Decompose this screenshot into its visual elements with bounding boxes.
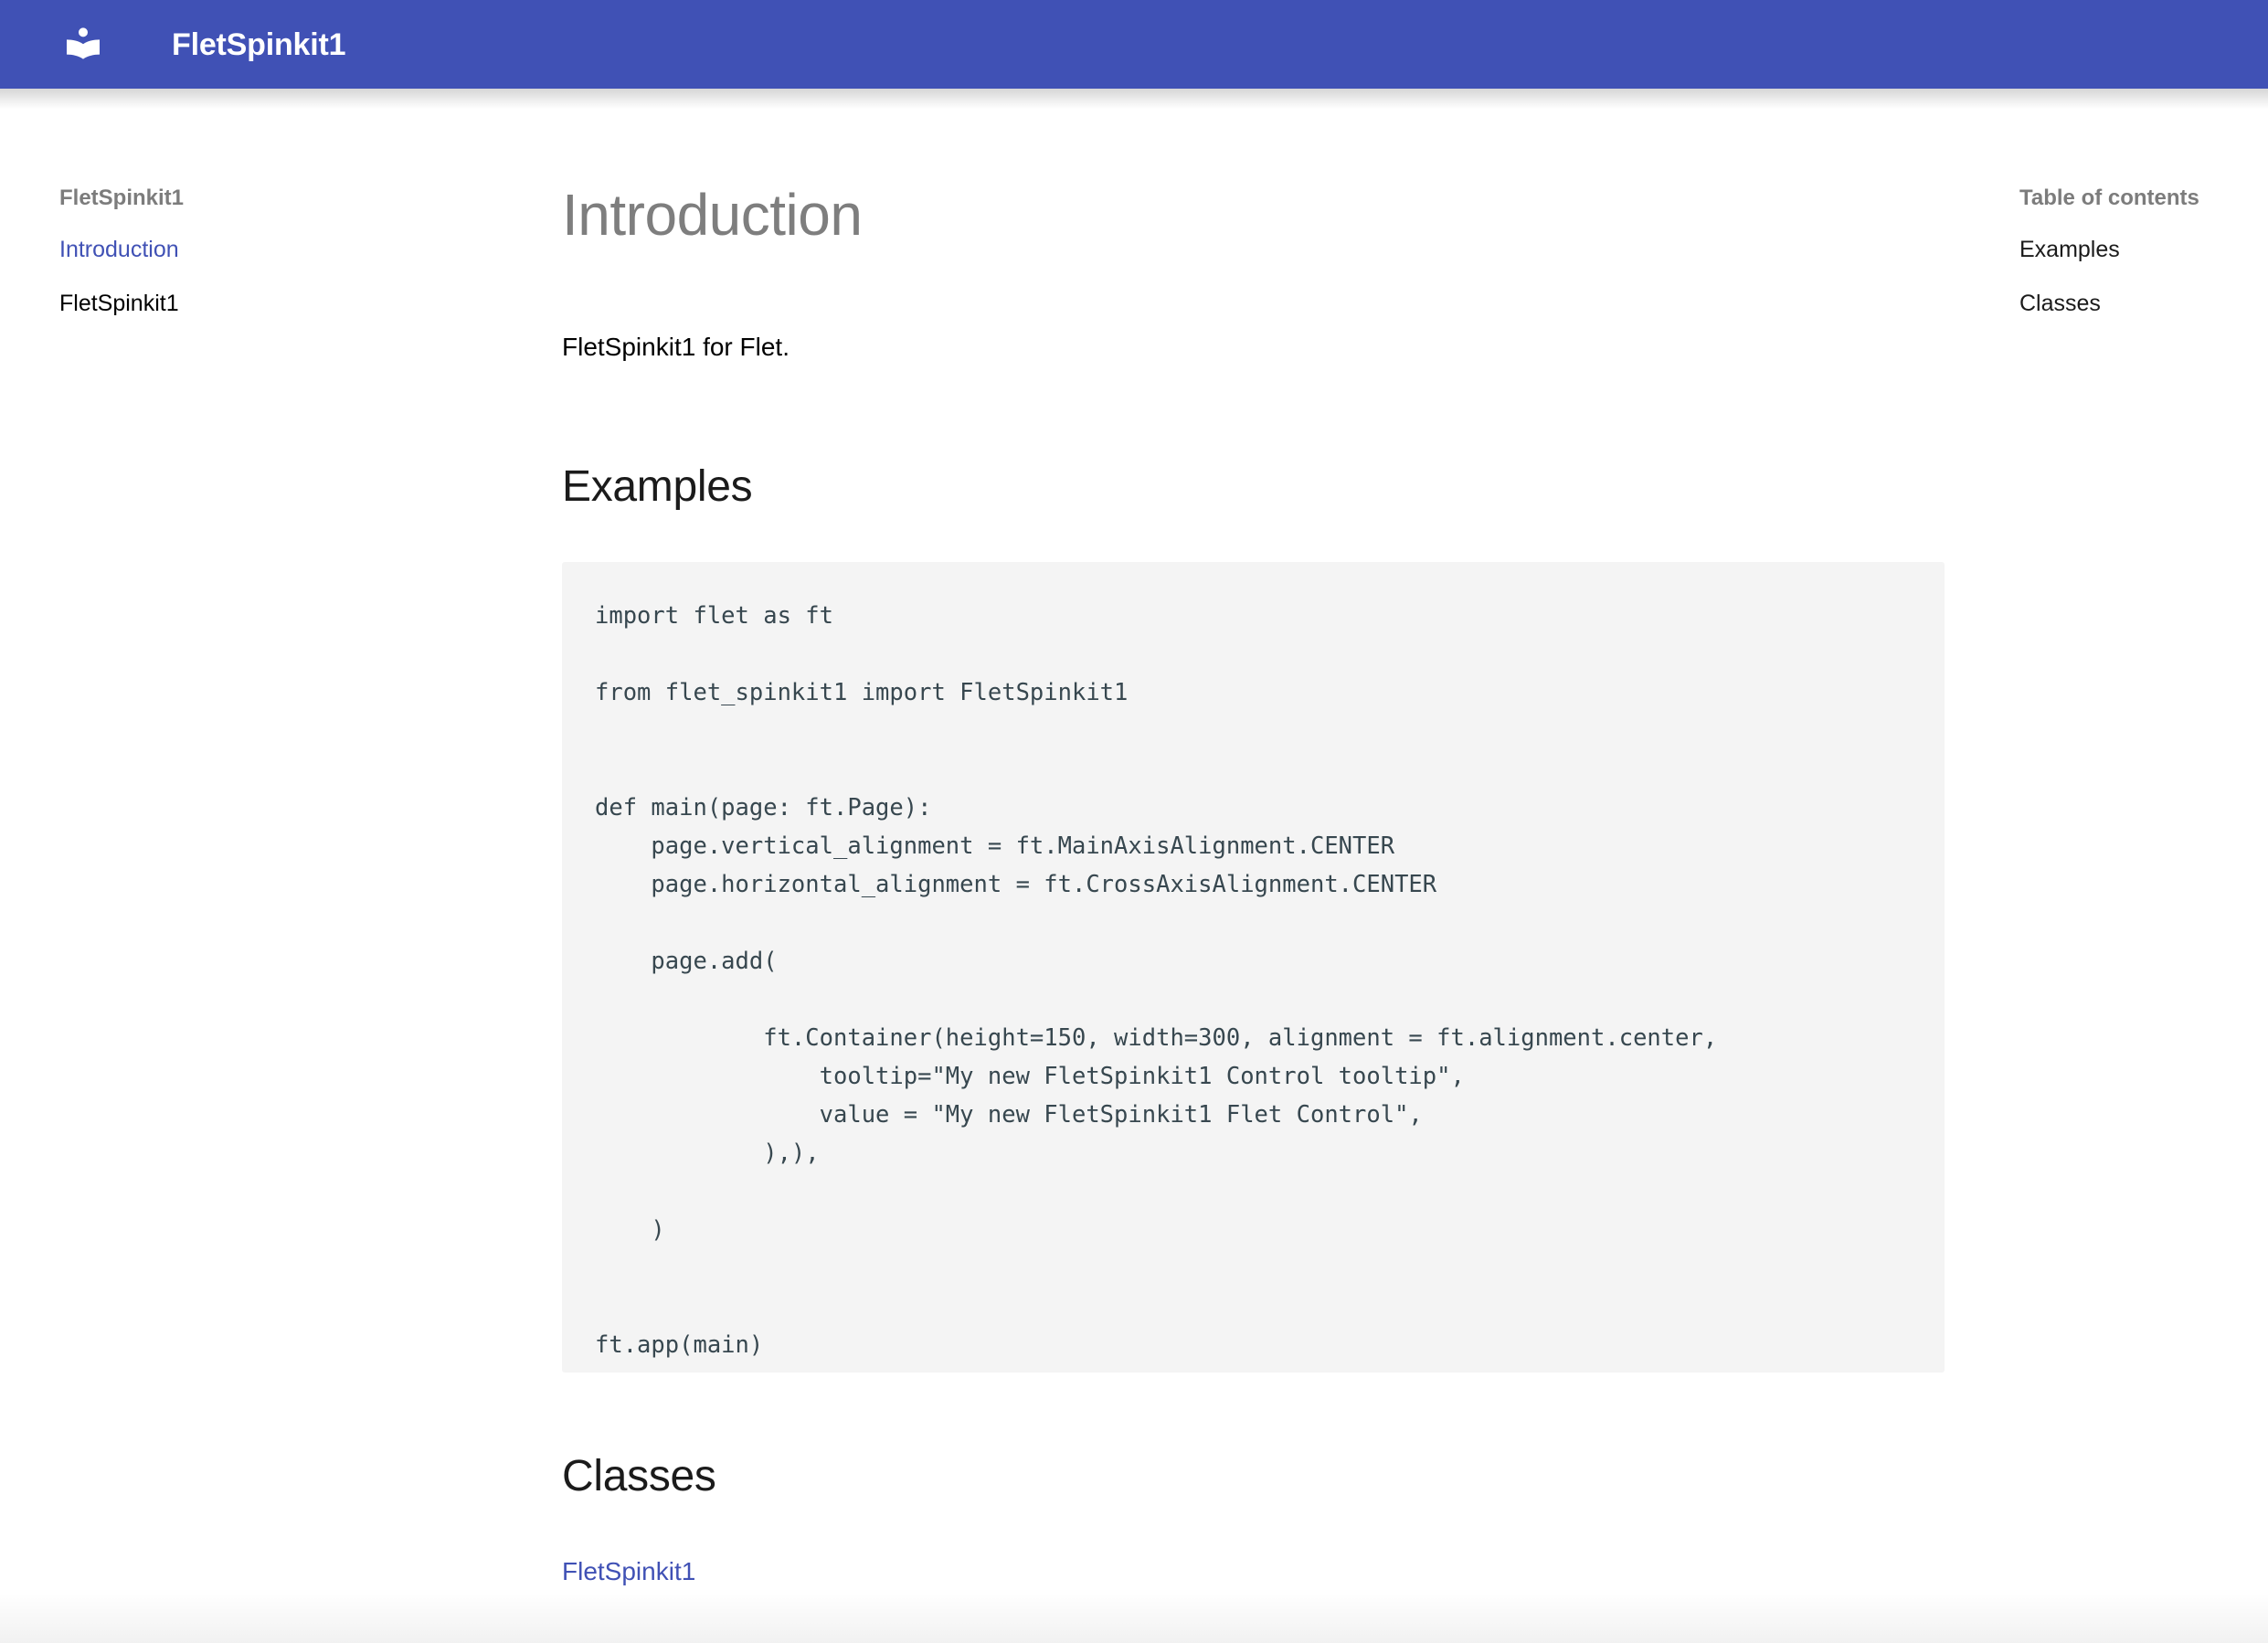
toc-item-classes[interactable]: Classes (2019, 292, 2268, 315)
section-heading-classes: Classes (562, 1373, 2019, 1501)
mkdocs-book-logo-icon[interactable] (57, 18, 110, 71)
header-title: FletSpinkit1 (172, 29, 345, 60)
sidebar-item-introduction[interactable]: Introduction (59, 238, 562, 261)
page-title: Introduction (562, 89, 2019, 246)
page-bottom-fade (0, 1593, 2268, 1643)
section-heading-examples: Examples (562, 365, 2019, 512)
primary-sidebar: FletSpinkit1 Introduction FletSpinkit1 (0, 89, 562, 346)
sidebar-title: FletSpinkit1 (59, 187, 562, 209)
sidebar-item-fletspinkit1[interactable]: FletSpinkit1 (59, 292, 562, 315)
main-area: FletSpinkit1 Introduction FletSpinkit1 I… (0, 89, 2268, 1643)
content-article: Introduction FletSpinkit1 for Flet. Exam… (562, 89, 2019, 1585)
lead-paragraph: FletSpinkit1 for Flet. (562, 246, 2019, 364)
class-link-fletspinkit1[interactable]: FletSpinkit1 (562, 1559, 695, 1585)
toc-title: Table of contents (2019, 187, 2268, 209)
table-of-contents: Table of contents Examples Classes (2019, 89, 2268, 346)
toc-item-examples[interactable]: Examples (2019, 238, 2268, 261)
app-header: FletSpinkit1 (0, 0, 2268, 89)
code-block[interactable]: import flet as ft from flet_spinkit1 imp… (562, 562, 1945, 1373)
code-block-content: import flet as ft from flet_spinkit1 imp… (562, 562, 1945, 1364)
